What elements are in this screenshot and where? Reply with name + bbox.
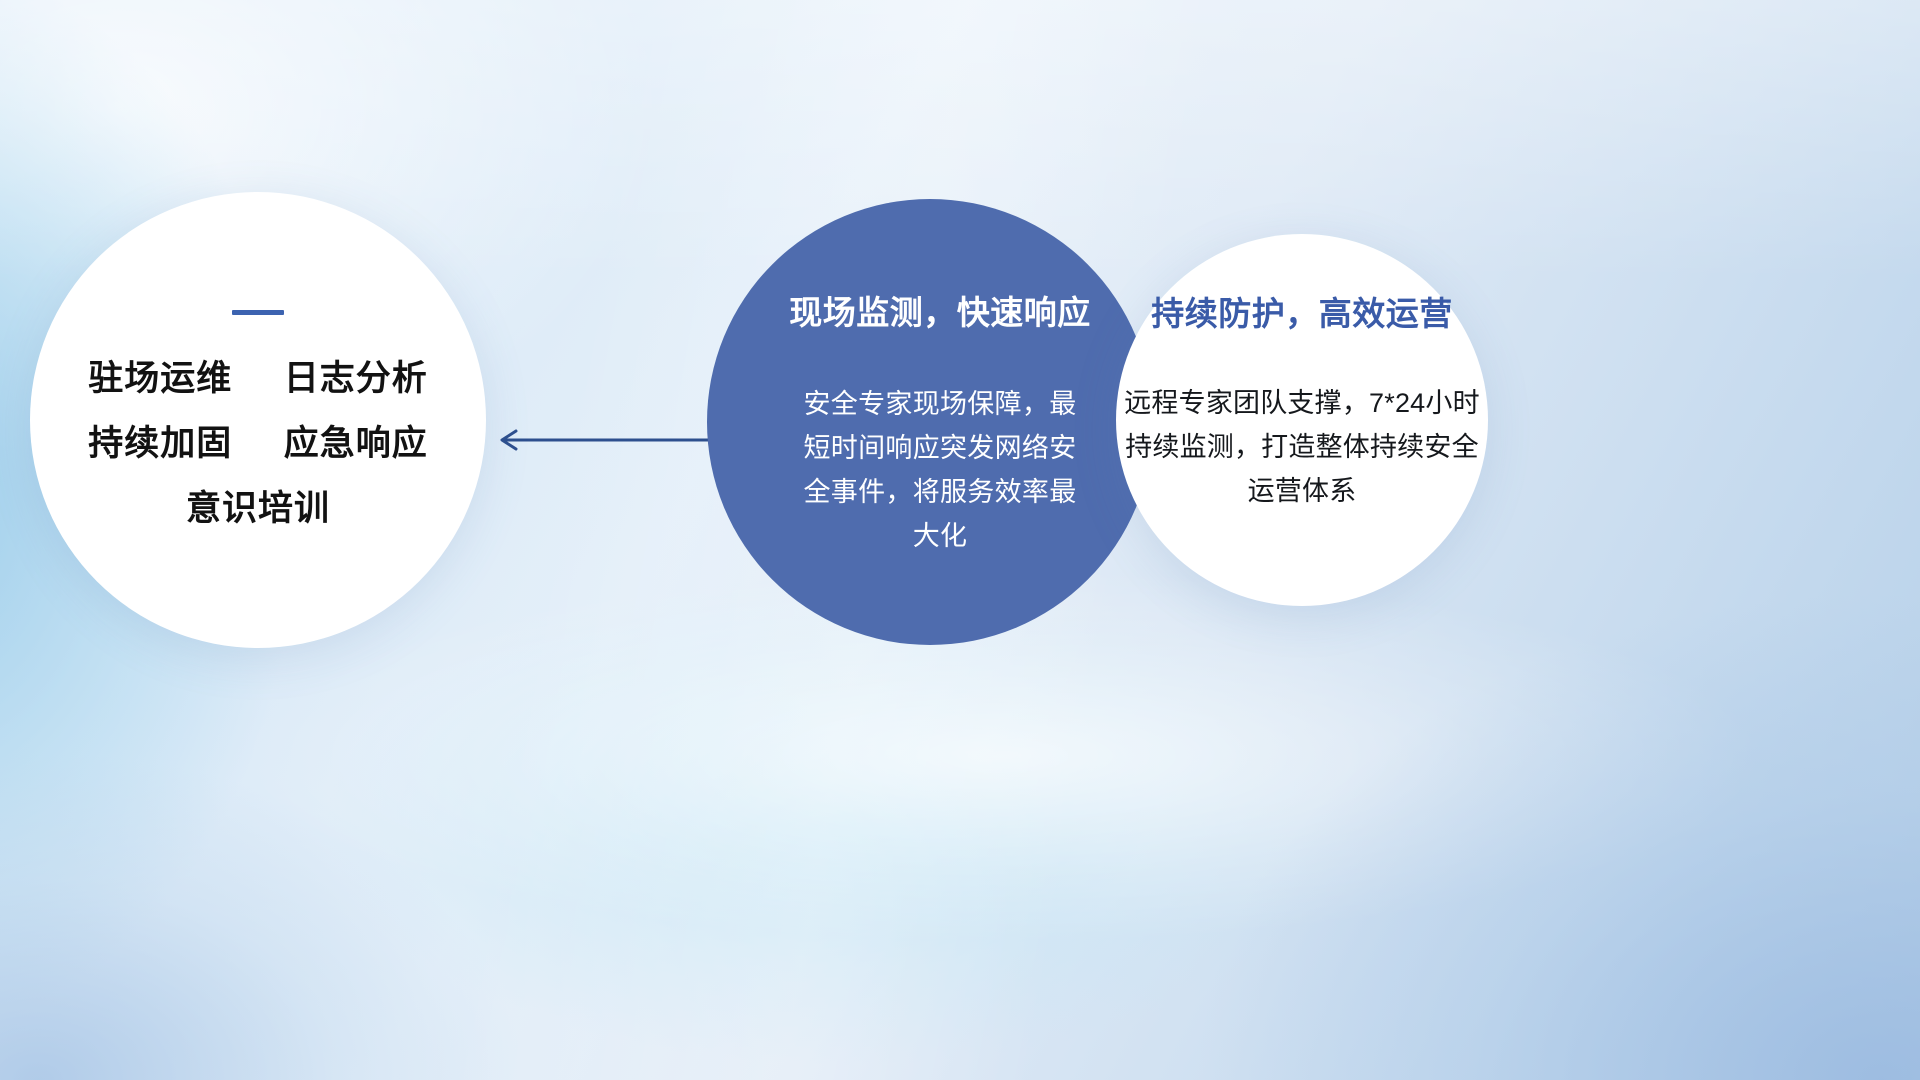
keyword-label: 意识培训	[186, 489, 330, 528]
keyword-label: 驻场运维	[88, 359, 232, 398]
right-white-circle: 持续防护，高效运营 远程专家团队支撑，7*24小时持续监测，打造整体持续安全运营…	[1116, 234, 1488, 606]
right-circle-title: 持续防护，高效运营	[1151, 296, 1453, 332]
keyword-label: 持续加固	[88, 424, 232, 463]
left-keyword-circle: 驻场运维 日志分析 持续加固 应急响应 意识培训	[30, 192, 486, 648]
keyword-row: 驻场运维 日志分析	[88, 361, 428, 396]
left-circle-content: 驻场运维 日志分析 持续加固 应急响应 意识培训	[30, 192, 486, 648]
middle-blue-circle: 现场监测，快速响应 安全专家现场保障，最短时间响应突发网络安全事件，将服务效率最…	[707, 199, 1153, 645]
right-circle-content: 持续防护，高效运营 远程专家团队支撑，7*24小时持续监测，打造整体持续安全运营…	[1116, 234, 1488, 606]
connector-arrow	[488, 424, 720, 456]
right-circle-body: 远程专家团队支撑，7*24小时持续监测，打造整体持续安全运营体系	[1124, 382, 1480, 513]
divider-dash	[232, 310, 284, 315]
keyword-label: 日志分析	[284, 359, 428, 398]
keyword-row: 意识培训	[186, 491, 330, 526]
middle-circle-body: 安全专家现场保障，最短时间响应突发网络安全事件，将服务效率最大化	[795, 383, 1085, 558]
slide-canvas: 驻场运维 日志分析 持续加固 应急响应 意识培训 现场监测，快速响应 安全专家现…	[0, 0, 1920, 1080]
arrow-left-icon	[488, 424, 720, 456]
keyword-row: 持续加固 应急响应	[88, 426, 428, 461]
middle-circle-title: 现场监测，快速响应	[789, 295, 1091, 331]
middle-circle-content: 现场监测，快速响应 安全专家现场保障，最短时间响应突发网络安全事件，将服务效率最…	[707, 199, 1153, 645]
keyword-label: 应急响应	[284, 424, 428, 463]
